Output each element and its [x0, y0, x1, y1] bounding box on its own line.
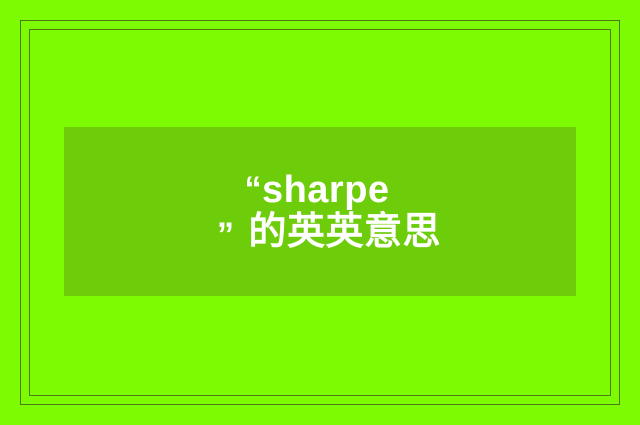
right-double-quote-glyph: ” [217, 216, 235, 254]
title-subtitle-cn: 的英英意思 [248, 211, 441, 253]
left-double-quote-glyph: “ [244, 170, 262, 208]
title-line-1: “sharpe [244, 169, 389, 212]
title-keyword: sharpe [262, 169, 390, 211]
title-line-2: ”的英英意思 [217, 211, 441, 254]
title-text-block: “sharpe ”的英英意思 [64, 127, 576, 296]
slide-canvas: “sharpe ”的英英意思 [0, 0, 640, 425]
